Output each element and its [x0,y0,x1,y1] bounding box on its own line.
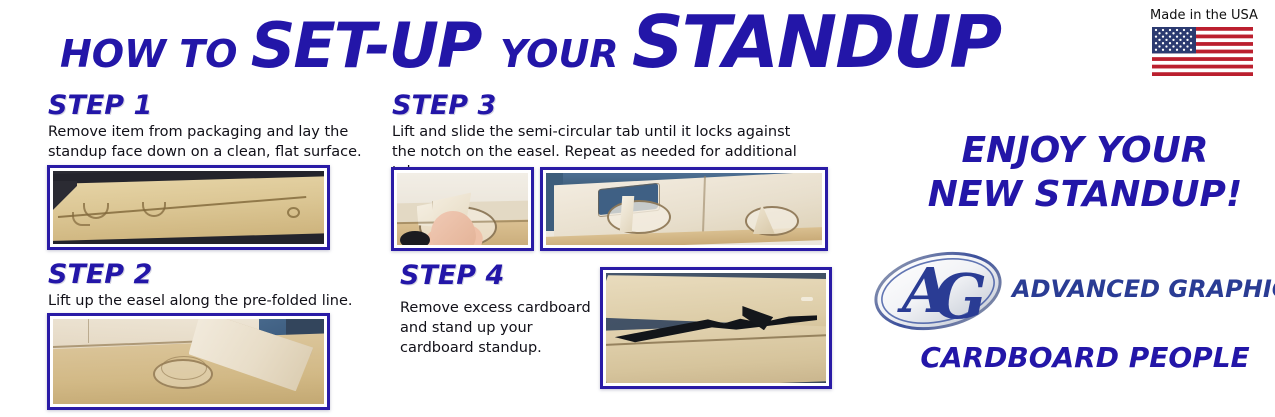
step-1-title: STEP 1 [48,92,152,119]
step-2-body: Lift up the easel along the pre-folded l… [48,291,368,311]
promo-line-1: ENJOY YOUR [895,130,1275,172]
svg-text:G: G [934,260,987,333]
step-3-image-b [546,173,822,245]
step-3-photo-b [540,167,828,251]
company-tagline: CARDBOARD PEOPLE [895,341,1275,374]
made-in-usa-label: Made in the USA [1150,8,1258,23]
step-3-image-a [397,173,528,245]
step-2-image [53,319,324,404]
promo-line-2: NEW STANDUP! [895,174,1275,216]
step-1-image [53,171,324,244]
page-title-part-2: SET-UP [251,9,500,82]
step-1-photo [47,165,330,250]
us-flag-icon [1152,27,1253,76]
page-title-part-3: YOUR [500,32,632,76]
page-title-part-4: STANDUP [632,0,1000,84]
step-4-title: STEP 4 [400,262,504,289]
page-title-part-1: HOW TO [60,32,251,76]
page-title: HOW TO SET-UP YOUR STANDUP [60,6,1000,78]
step-2-photo [47,313,330,410]
ag-monogram-logo: A G [872,246,1004,336]
instruction-sheet: HOW TO SET-UP YOUR STANDUP Made in the U… [0,0,1275,417]
step-1-body: Remove item from packaging and lay the s… [48,122,368,162]
step-4-photo [600,267,832,389]
step-4-body: Remove excess cardboard and stand up you… [400,298,610,358]
step-3-title: STEP 3 [392,92,496,119]
step-4-image [606,273,826,383]
step-2-title: STEP 2 [48,261,152,288]
company-name: ADVANCED GRAPHICS [1012,275,1275,303]
step-3-photo-a [391,167,534,251]
